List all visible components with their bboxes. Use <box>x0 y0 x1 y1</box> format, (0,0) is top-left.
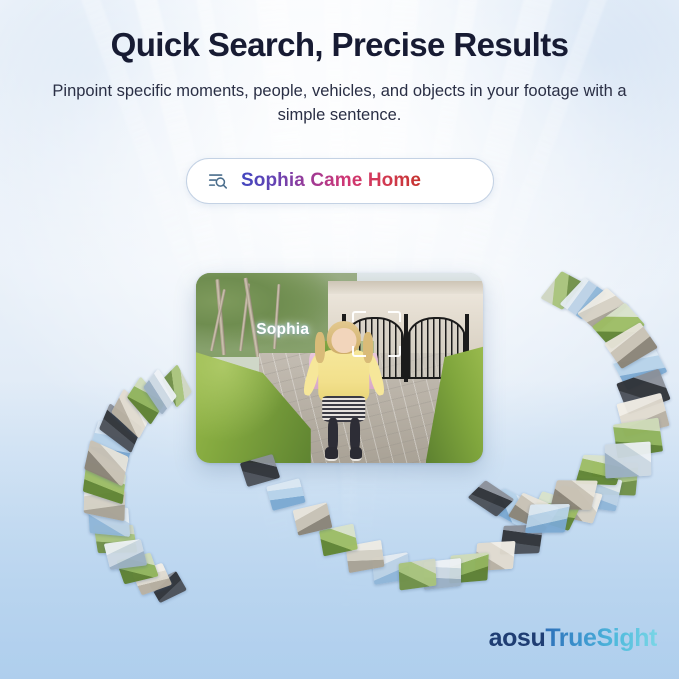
shoe-right <box>350 447 363 461</box>
brand-name: aosu <box>489 624 546 653</box>
page-title: Quick Search, Precise Results <box>0 26 679 64</box>
face-name-label: Sophia <box>256 321 309 339</box>
brand-logo: aosu TrueSight <box>489 624 657 653</box>
list-search-icon <box>195 158 241 204</box>
roofline <box>328 281 483 294</box>
shoe-left <box>325 447 338 461</box>
gate-post-center <box>404 314 408 382</box>
scene-image: Sophia <box>196 273 483 463</box>
page-subtitle: Pinpoint specific moments, people, vehic… <box>40 80 640 128</box>
detection-preview-card[interactable]: Sophia <box>196 273 483 463</box>
bracket-bottom-left <box>352 346 366 357</box>
skirt <box>322 396 366 421</box>
promo-banner: Quick Search, Precise Results Pinpoint s… <box>0 0 679 679</box>
bracket-bottom-right <box>388 346 402 357</box>
search-query-text: Sophia Came Home <box>241 170 421 192</box>
bracket-top-left <box>352 311 366 322</box>
bracket-top-right <box>388 311 402 322</box>
product-name: TrueSight <box>545 624 657 653</box>
search-input[interactable]: Sophia Came Home <box>186 158 494 204</box>
face-detection-brackets <box>352 311 401 357</box>
hair-left <box>315 332 325 363</box>
